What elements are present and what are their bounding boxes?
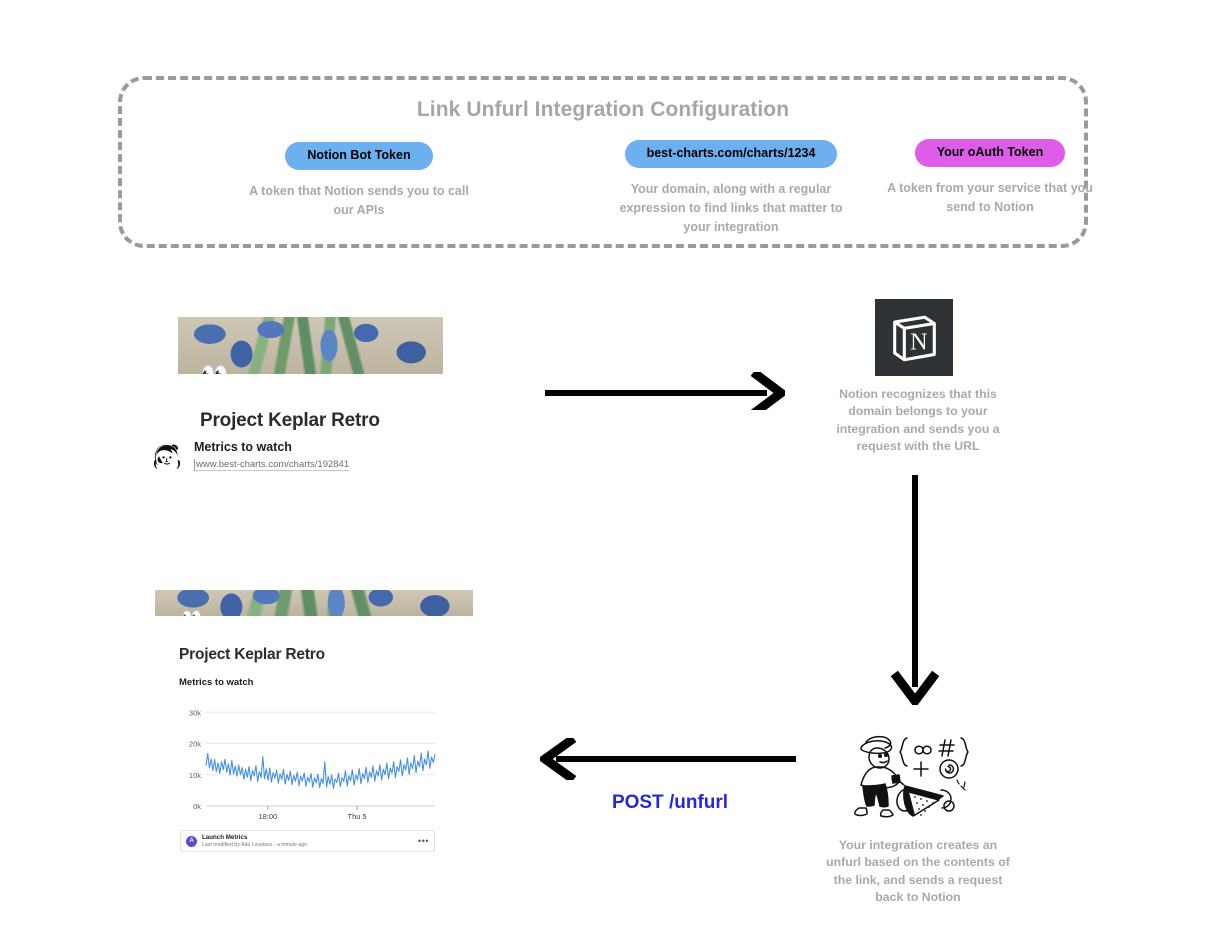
avatar: A bbox=[186, 836, 197, 847]
config-column-domain: best-charts.com/charts/1234 Your domain,… bbox=[609, 140, 853, 237]
svg-text:0k: 0k bbox=[193, 802, 201, 811]
notion-step-caption: Notion recognizes that this domain belon… bbox=[836, 386, 1000, 456]
config-card: Link Unfurl Integration Configuration No… bbox=[118, 76, 1088, 248]
link-url[interactable]: www.best-charts.com/charts/192841 bbox=[194, 459, 349, 471]
link-preview-row[interactable]: Metrics to watch www.best-charts.com/cha… bbox=[150, 440, 450, 476]
config-column-oauth-token: Your oAuth Token A token from your servi… bbox=[882, 139, 1098, 217]
eyes-emoji-icon: 👀 bbox=[181, 609, 202, 616]
config-title: Link Unfurl Integration Configuration bbox=[122, 98, 1084, 122]
svg-text:N: N bbox=[910, 328, 927, 355]
notion-page-preview-bottom: 👀 Project Keplar Retro Metrics to watch … bbox=[155, 590, 473, 852]
config-description-oauth-token: A token from your service that you send … bbox=[882, 179, 1098, 217]
chart-footer-title: Launch Metrics bbox=[202, 834, 413, 842]
arrow-down-icon bbox=[885, 475, 945, 705]
config-description-domain: Your domain, along with a regular expres… bbox=[609, 180, 853, 237]
unfurl-step-caption: Your integration creates an unfurl based… bbox=[820, 837, 1016, 907]
config-description-bot-token: A token that Notion sends you to call ou… bbox=[240, 182, 478, 220]
metrics-chart: 0k10k20k30k18:00Thu 5 bbox=[180, 700, 437, 830]
page-cover-banner: 👀 bbox=[178, 317, 443, 374]
irises-painting-art bbox=[155, 590, 473, 616]
page-cover-banner: 👀 bbox=[155, 590, 473, 616]
svg-text:10k: 10k bbox=[189, 771, 201, 780]
more-options-icon[interactable]: ••• bbox=[418, 837, 429, 846]
page-title: Project Keplar Retro bbox=[200, 410, 443, 432]
config-column-bot-token: Notion Bot Token A token that Notion sen… bbox=[240, 142, 478, 220]
eyes-emoji-icon: 👀 bbox=[200, 363, 229, 374]
chart-footer-row[interactable]: A Launch Metrics Last modified by Ada Lo… bbox=[180, 830, 435, 852]
svg-text:30k: 30k bbox=[189, 708, 201, 717]
person-catching-symbols-illustration bbox=[845, 730, 985, 825]
chart-canvas: 0k10k20k30k18:00Thu 5 bbox=[180, 700, 437, 830]
pill-notion-bot-token[interactable]: Notion Bot Token bbox=[285, 142, 432, 170]
page-title: Project Keplar Retro bbox=[179, 646, 473, 664]
chart-block-label: Metrics to watch bbox=[179, 677, 473, 688]
svg-text:20k: 20k bbox=[189, 740, 201, 749]
arrow-left-icon bbox=[540, 738, 796, 780]
svg-text:18:00: 18:00 bbox=[258, 812, 277, 821]
pill-oauth-token[interactable]: Your oAuth Token bbox=[915, 139, 1065, 167]
notion-logo: N bbox=[875, 299, 953, 376]
pill-domain-url[interactable]: best-charts.com/charts/1234 bbox=[625, 140, 838, 168]
face-avatar-icon bbox=[150, 442, 184, 476]
notion-page-preview-top: 👀 Project Keplar Retro bbox=[178, 317, 443, 432]
link-preview-texts: Metrics to watch www.best-charts.com/cha… bbox=[194, 440, 349, 472]
post-unfurl-label: POST /unfurl bbox=[545, 792, 795, 814]
svg-text:Thu 5: Thu 5 bbox=[348, 812, 367, 821]
chart-footer-subtitle: Last modified by Ada Lovelace - a minute… bbox=[202, 842, 413, 849]
arrow-right-icon bbox=[545, 372, 785, 410]
link-title: Metrics to watch bbox=[194, 440, 349, 454]
